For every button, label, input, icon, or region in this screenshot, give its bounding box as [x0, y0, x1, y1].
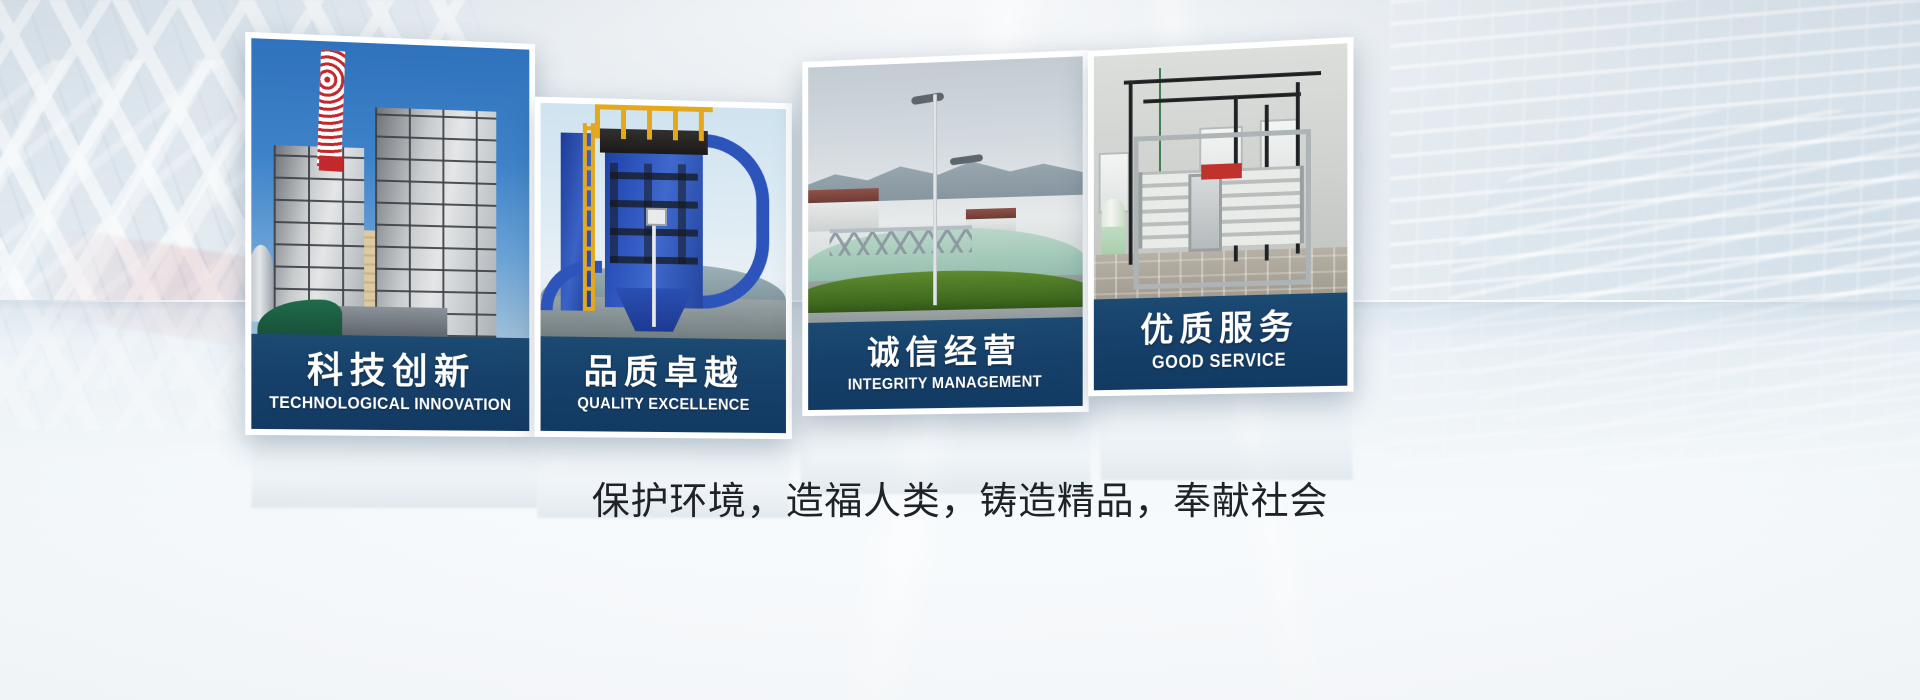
photo-reverse-osmosis-system	[1094, 43, 1348, 311]
panel-caption-4: 优质服务 GOOD SERVICE	[1094, 292, 1348, 390]
panel-title-en-2: QUALITY EXCELLENCE	[577, 395, 749, 415]
panel-caption-3: 诚信经营 INTEGRITY MANAGEMENT	[808, 317, 1083, 410]
photo-desulfurization-towers	[251, 38, 529, 338]
panel-title-en-1: TECHNOLOGICAL INNOVATION	[270, 393, 512, 415]
panel-caption-1: 科技创新 TECHNOLOGICAL INNOVATION	[251, 334, 529, 431]
feature-panel-technological-innovation[interactable]: 科技创新 TECHNOLOGICAL INNOVATION	[245, 32, 535, 437]
feature-panel-integrity-management[interactable]: 诚信经营 INTEGRITY MANAGEMENT	[802, 50, 1088, 416]
panel-reflection-4	[1099, 396, 1353, 480]
feature-panel-quality-excellence[interactable]: 品质卓越 QUALITY EXCELLENCE	[534, 97, 791, 440]
panel-title-cn-3: 诚信经营	[867, 334, 1022, 372]
panel-caption-2: 品质卓越 QUALITY EXCELLENCE	[541, 336, 786, 433]
hero-banner: 科技创新 TECHNOLOGICAL INNOVATION	[0, 0, 1920, 700]
panel-title-cn-1: 科技创新	[307, 350, 476, 390]
panel-title-en-3: INTEGRITY MANAGEMENT	[848, 373, 1042, 394]
panel-title-cn-2: 品质卓越	[584, 355, 744, 393]
photo-baghouse-dust-collector	[541, 103, 786, 348]
banner-tagline: 保护环境，造福人类，铸造精品，奉献社会	[0, 470, 1920, 525]
background-glass-curve	[1450, 110, 1920, 440]
panel-title-cn-4: 优质服务	[1140, 310, 1299, 350]
photo-wastewater-treatment-plant	[808, 56, 1083, 329]
feature-panel-good-service[interactable]: 优质服务 GOOD SERVICE	[1088, 37, 1353, 396]
panel-title-en-4: GOOD SERVICE	[1152, 350, 1286, 374]
background-glass-building	[1390, 0, 1920, 470]
